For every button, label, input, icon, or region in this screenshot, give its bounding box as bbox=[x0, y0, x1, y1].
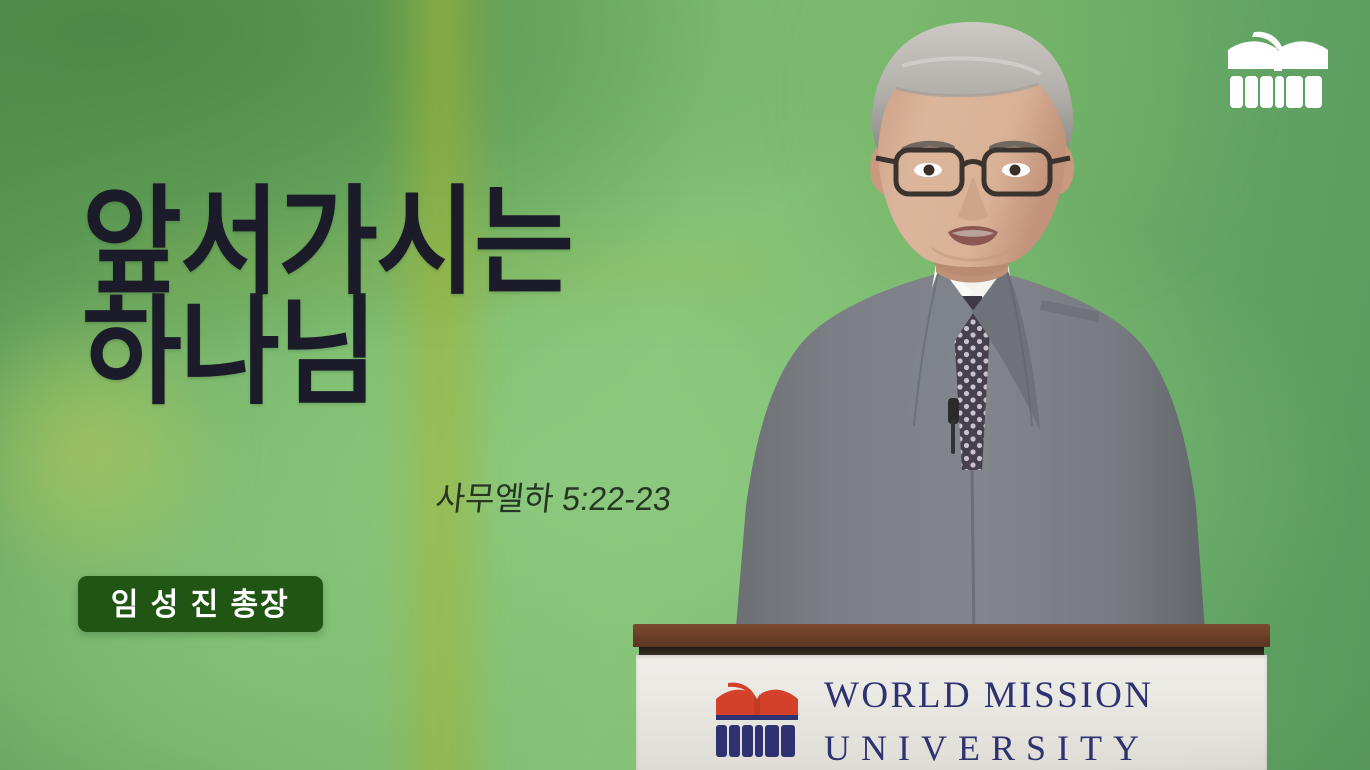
scripture-reference: 사무엘하 5:22-23 bbox=[433, 472, 673, 520]
sermon-title-slide: WORLD MISSION UNIVERSITY bbox=[0, 0, 1370, 770]
wmu-logo-icon bbox=[1226, 28, 1330, 110]
sermon-title-line1: 앞서가시는 bbox=[82, 186, 671, 300]
sermon-title: 앞서가시는 하나님 bbox=[82, 186, 722, 411]
sermon-title-line2: 하나님 bbox=[82, 296, 671, 410]
speaker-name-badge: 임 성 진 총장 bbox=[78, 576, 323, 632]
speaker-name-label: 임 성 진 총장 bbox=[111, 589, 290, 620]
